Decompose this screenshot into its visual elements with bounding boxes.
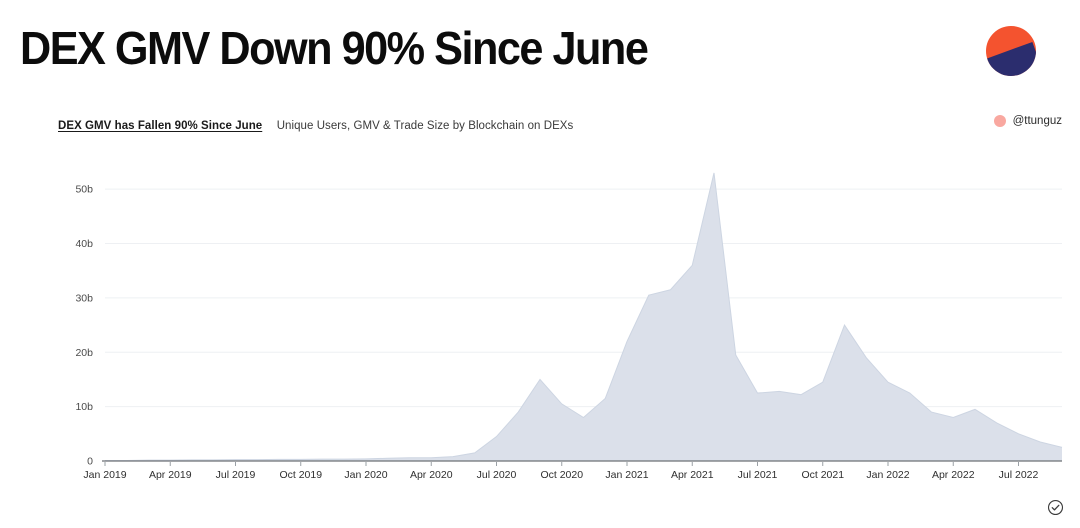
brand-logo-lower-half — [986, 42, 1036, 76]
x-axis-tick-label: Jan 2019 — [83, 469, 126, 481]
verified-check-icon[interactable] — [1047, 499, 1064, 516]
x-axis-tick-label: Jan 2021 — [605, 469, 648, 481]
y-axis-tick-label: 0 — [87, 456, 93, 468]
y-axis-tick-label: 20b — [75, 347, 93, 359]
y-axis-tick-label: 40b — [75, 238, 93, 250]
y-axis-tick-label: 30b — [75, 292, 93, 304]
page-header: DEX GMV Down 90% Since June — [0, 0, 1080, 100]
x-axis-tick-label: Apr 2019 — [149, 469, 192, 481]
page-title: DEX GMV Down 90% Since June — [20, 20, 647, 76]
x-axis-tick-label: Jul 2020 — [477, 469, 517, 481]
x-axis-tick-label: Jan 2020 — [344, 469, 387, 481]
x-axis-tick-label: Apr 2022 — [932, 469, 975, 481]
y-axis-tick-label: 50b — [75, 184, 93, 196]
chart-card: DEX GMV has Fallen 90% Since June Unique… — [0, 100, 1080, 528]
x-axis-tick-label: Jul 2021 — [738, 469, 778, 481]
brand-logo-icon — [986, 26, 1036, 76]
plot-area: 010b20b30b40b50bJan 2019Apr 2019Jul 2019… — [0, 100, 1080, 528]
y-axis-tick-label: 10b — [75, 401, 93, 413]
x-axis-tick-label: Apr 2020 — [410, 469, 453, 481]
x-axis-tick-label: Oct 2019 — [279, 469, 322, 481]
x-axis-tick-label: Jul 2019 — [216, 469, 256, 481]
x-axis-tick-label: Jan 2022 — [866, 469, 909, 481]
area-chart-svg: 010b20b30b40b50bJan 2019Apr 2019Jul 2019… — [0, 100, 1080, 528]
x-axis-tick-label: Oct 2020 — [540, 469, 583, 481]
x-axis-tick-label: Oct 2021 — [801, 469, 844, 481]
x-axis-tick-label: Jul 2022 — [999, 469, 1039, 481]
x-axis-tick-label: Apr 2021 — [671, 469, 714, 481]
chart-page: DEX GMV Down 90% Since June DEX GMV has … — [0, 0, 1080, 528]
